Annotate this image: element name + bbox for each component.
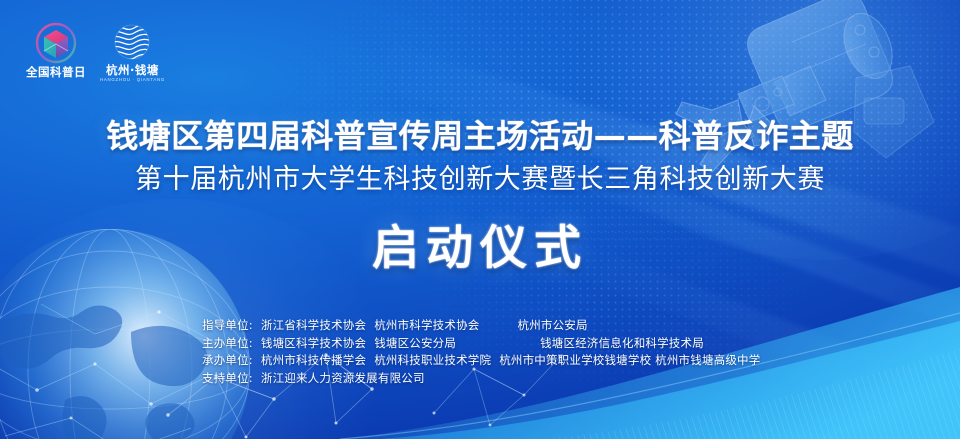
organizer-item: 杭州市科学技术协会 [366,317,479,335]
organizer-item: 钱塘区经济信息化和科学技术局 [456,335,704,353]
organizer-label: 支持单位: [202,370,253,388]
organizer-row: 主办单位: 钱塘区科学技术协会 钱塘区公安分局 钱塘区经济信息化和科学技术局 [202,335,760,353]
organizer-label: 主办单位: [202,335,253,353]
organizer-item: 钱塘区公安分局 [366,335,456,353]
ceremony-block: 启动仪式 [0,224,960,294]
logo-group: 全国科普日 [26,22,165,82]
organizer-row: 支持单位: 浙江迎来人力资源发展有限公司 [202,370,760,388]
national-science-day-label: 全国科普日 [26,67,86,79]
national-science-day-logo: 全国科普日 [26,22,86,79]
organizers-list: 指导单位: 浙江省科学技术协会 杭州市科学技术协会 杭州市公安局 主办单位: 钱… [202,317,760,387]
organizer-item: 浙江省科学技术协会 [253,317,366,335]
organizer-item: 浙江迎来人力资源发展有限公司 [253,370,425,388]
hangzhou-qiantang-logo: 杭州·钱塘 HANGZHOU · QIANTANG [100,22,165,82]
organizer-item: 杭州市科技传播学会 [253,352,366,370]
hangzhou-qiantang-label: 杭州·钱塘 [106,65,159,77]
page-title: 钱塘区第四届科普宣传周主场活动——科普反诈主题 [0,118,960,156]
hangzhou-qiantang-pinyin: HANGZHOU · QIANTANG [100,78,165,82]
organizer-label: 承办单位: [202,352,253,370]
organizer-item: 钱塘区科学技术协会 [253,335,366,353]
event-banner: 全国科普日 [0,0,960,439]
cube-icon [35,22,77,64]
page-subtitle: 第十届杭州市大学生科技创新大赛暨长三角科技创新大赛 [0,164,960,196]
organizer-row: 指导单位: 浙江省科学技术协会 杭州市科学技术协会 杭州市公安局 [202,317,760,335]
ceremony-title: 启动仪式 [372,224,588,273]
organizer-item: 杭州市公安局 [480,317,588,335]
wave-circle-icon [112,22,152,62]
organizer-item: 杭州科技职业技术学院 [366,352,491,370]
organizer-row: 承办单位: 杭州市科技传播学会 杭州科技职业技术学院 杭州市中策职业学校钱塘学校… [202,352,760,370]
organizer-item: 杭州市中策职业学校钱塘学校 杭州市钱塘高级中学 [491,352,760,370]
headline-block: 钱塘区第四届科普宣传周主场活动——科普反诈主题 第十届杭州市大学生科技创新大赛暨… [0,118,960,196]
organizer-label: 指导单位: [202,317,253,335]
